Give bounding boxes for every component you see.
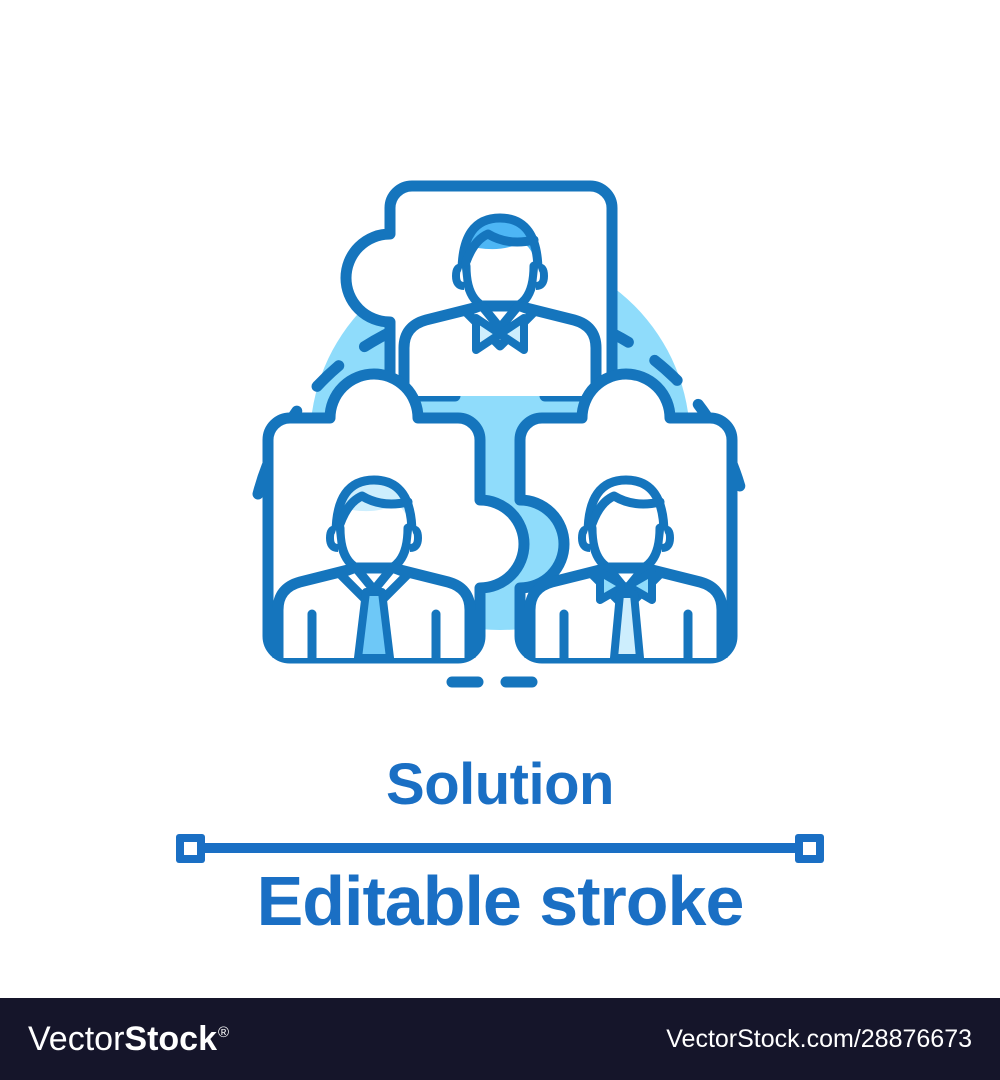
logo-text-vector: Vector <box>28 1020 124 1059</box>
vectorstock-logo: VectorStock® <box>28 1020 229 1059</box>
vectorstock-url: VectorStock.com/28876673 <box>666 1025 972 1054</box>
puzzle-piece-top <box>346 186 612 396</box>
teamwork-puzzle-illustration <box>0 0 1000 740</box>
puzzle-piece-bottom-right <box>520 374 732 658</box>
registered-trademark-icon: ® <box>218 1024 229 1041</box>
subtitle-editable-stroke: Editable stroke <box>0 866 1000 936</box>
logo-text-stock: Stock <box>124 1020 217 1059</box>
anchor-point-left-center <box>184 842 197 855</box>
top-person-jacket <box>404 306 596 396</box>
left-person-necktie <box>358 592 390 658</box>
watermark-footer: VectorStock® VectorStock.com/28876673 <box>0 998 1000 1080</box>
anchor-point-right-center <box>803 842 816 855</box>
illustration-area <box>0 0 1000 740</box>
right-person-necktie <box>614 594 640 658</box>
title-solution: Solution <box>0 756 1000 814</box>
screenshot-canvas: Solution Editable stroke VectorStock® Ve… <box>0 0 1000 1080</box>
